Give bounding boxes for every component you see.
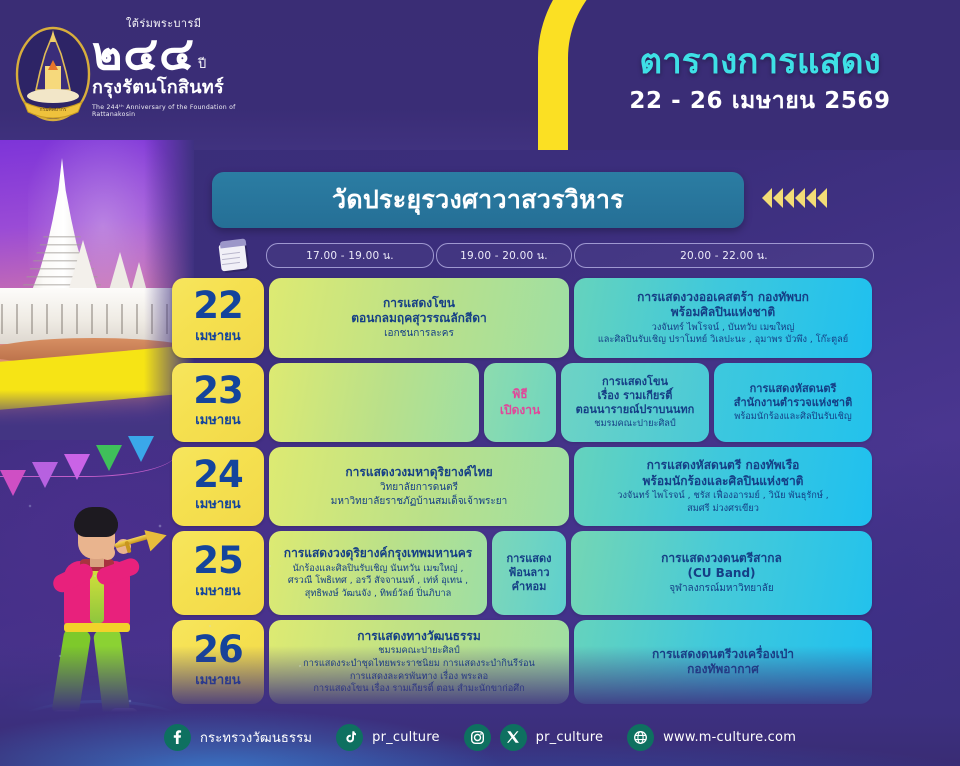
anniversary-top-line: ใต้ร่มพระบารมี	[126, 14, 272, 32]
event-sub: เอกชนการละคร	[384, 327, 454, 340]
event-sub: ชมรมคณะปายะศิลป์	[594, 418, 676, 430]
event-cell-25-dance: การแสดง ฟ้อนลาว คำหอม	[492, 531, 566, 615]
event-cell-23-khon: การแสดงโขน เรื่อง รามเกียรติ์ ตอนนารายณ์…	[561, 363, 709, 442]
venue-name: วัดประยุรวงศาวาสวรวิหาร	[332, 180, 624, 220]
event-cell-23-police: การแสดงหัสดนตรี สำนักงานตำรวจแห่งชาติ พร…	[714, 363, 872, 442]
day-number: 23	[193, 375, 243, 407]
website-label[interactable]: www.m-culture.com	[663, 730, 796, 745]
anniversary-logo-block: กรมศิลปากร ใต้ร่มพระบารมี ๒๔๔ปี กรุงรัตน…	[6, 8, 276, 132]
day-number: 22	[193, 290, 243, 322]
event-title-2: เปิดงาน	[500, 403, 540, 418]
date-range: 22 - 26 เมษายน 2569	[575, 83, 945, 119]
event-title-2: เรื่อง รามเกียรติ์	[598, 389, 673, 403]
royal-emblem-icon: กรมศิลปากร	[14, 20, 92, 124]
event-cell-23-opening: พิธี เปิดงาน	[484, 363, 556, 442]
event-cell-24-b: การแสดงหัสดนตรี กองทัพเรือ พร้อมนักร้องแ…	[574, 447, 872, 526]
event-cell-23-empty	[269, 363, 479, 442]
event-title: การแสดงทางวัฒนธรรม	[357, 629, 481, 644]
x-twitter-label[interactable]: pr_culture	[536, 730, 604, 745]
day-badge-22: 22 เมษายน	[172, 278, 264, 358]
time-slot-2: 19.00 - 20.00 น.	[436, 243, 572, 268]
page-title: ตารางการแสดง	[575, 44, 945, 81]
event-title-3: ตอนนารายณ์ปราบนนทก	[576, 403, 695, 417]
social-footer: กระทรวงวัฒนธรรม pr_culture pr_culture ww…	[0, 708, 960, 766]
anniversary-text: ใต้ร่มพระบารมี ๒๔๔ปี กรุงรัตนโกสินทร์ Th…	[92, 14, 272, 130]
event-title: การแสดงวงมหาดุริยางค์ไทย	[345, 465, 492, 480]
event-title: การแสดง	[506, 552, 551, 566]
globe-icon[interactable]	[627, 724, 654, 751]
tiktok-icon[interactable]	[336, 724, 363, 751]
day-badge-23: 23 เมษายน	[172, 363, 264, 442]
chevron-left-icon	[795, 188, 805, 208]
time-slot-3: 20.00 - 22.00 น.	[574, 243, 874, 268]
event-sub: พร้อมนักร้องและศิลปินรับเชิญ	[734, 411, 851, 423]
instagram-icon[interactable]	[464, 724, 491, 751]
event-title-2: สำนักงานตำรวจแห่งชาติ	[734, 396, 853, 410]
table-row: 23 เมษายน พิธี เปิดงาน การแสดงโขน เรื่อง…	[172, 363, 872, 442]
tiktok-label[interactable]: pr_culture	[372, 730, 440, 745]
event-title-2: พร้อมศิลปินแห่งชาติ	[671, 305, 775, 320]
temple-illustration	[0, 140, 194, 440]
event-title: การแสดงวงดนตรีสากล	[661, 551, 782, 566]
event-sub: วงจันทร์ ไพโรจน์ , ชรัส เฟื่องอารมย์ , ว…	[617, 490, 828, 502]
event-sub: วงจันทร์ ไพโรจน์ , บันทวับ เมฆใหญ่	[652, 322, 795, 334]
event-cell-22-b: การแสดงวงออเคสตร้า กองทัพบก พร้อมศิลปินแ…	[574, 278, 872, 358]
table-row: 22 เมษายน การแสดงโขน ตอนกลมฤคสุวรรณลักสี…	[172, 278, 872, 358]
anniversary-subtitle: กรุงรัตนโกสินทร์	[92, 72, 272, 101]
event-sub: จุฬาลงกรณ์มหาวิทยาลัย	[669, 582, 774, 595]
event-sub: วิทยาลัยการดนตรี	[380, 481, 458, 494]
facebook-label[interactable]: กระทรวงวัฒนธรรม	[200, 727, 312, 748]
chevron-decoration	[762, 188, 827, 208]
day-month: เมษายน	[195, 325, 240, 346]
chevron-left-icon	[817, 188, 827, 208]
poster-title-block: ตารางการแสดง 22 - 26 เมษายน 2569	[575, 44, 945, 119]
day-month: เมษายน	[195, 409, 240, 430]
event-title-3: คำหอม	[512, 580, 547, 594]
event-title: การแสดงหัสดนตรี กองทัพเรือ	[647, 458, 800, 473]
facebook-icon[interactable]	[164, 724, 191, 751]
anniversary-year-unit: ปี	[198, 53, 206, 74]
event-title: การแสดงโขน	[602, 375, 668, 389]
time-slot-1: 17.00 - 19.00 น.	[266, 243, 434, 268]
event-sub-2: และศิลปินรับเชิญ ปราโมทย์ วิเลปะนะ , อุม…	[598, 334, 848, 346]
chevron-left-icon	[762, 188, 772, 208]
event-title: การแสดงหัสดนตรี	[750, 382, 837, 396]
infographic-poster: กรมศิลปากร ใต้ร่มพระบารมี ๒๔๔ปี กรุงรัตน…	[0, 0, 960, 766]
event-title-2: (CU Band)	[687, 566, 755, 581]
chevron-left-icon	[773, 188, 783, 208]
anniversary-english: The 244ᵗʰ Anniversary of the Foundation …	[92, 104, 272, 118]
event-title: การแสดงวงออเคสตร้า กองทัพบก	[637, 290, 809, 305]
chevron-left-icon	[784, 188, 794, 208]
time-slot-header-row: 17.00 - 19.00 น. 19.00 - 20.00 น. 20.00 …	[212, 243, 872, 267]
event-sub-2: สมศรี ม่วงศรเขียว	[687, 503, 759, 515]
svg-text:กรมศิลปากร: กรมศิลปากร	[40, 106, 67, 113]
event-title-2: ฟ้อนลาว	[508, 566, 549, 580]
venue-banner: วัดประยุรวงศาวาสวรวิหาร	[212, 172, 744, 228]
event-cell-25-cuband: การแสดงวงดนตรีสากล (CU Band) จุฬาลงกรณ์ม…	[571, 531, 872, 615]
x-twitter-icon[interactable]	[500, 724, 527, 751]
event-title-2: พร้อมนักร้องและศิลปินแห่งชาติ	[643, 474, 804, 489]
calendar-icon	[218, 239, 248, 271]
chevron-left-icon	[806, 188, 816, 208]
event-title: การแสดงโขน	[383, 296, 455, 311]
event-title-2: ตอนกลมฤคสุวรรณลักสีดา	[351, 311, 487, 326]
event-cell-22-a: การแสดงโขน ตอนกลมฤคสุวรรณลักสีดา เอกชนกา…	[269, 278, 569, 358]
event-title: พิธี	[512, 387, 527, 402]
